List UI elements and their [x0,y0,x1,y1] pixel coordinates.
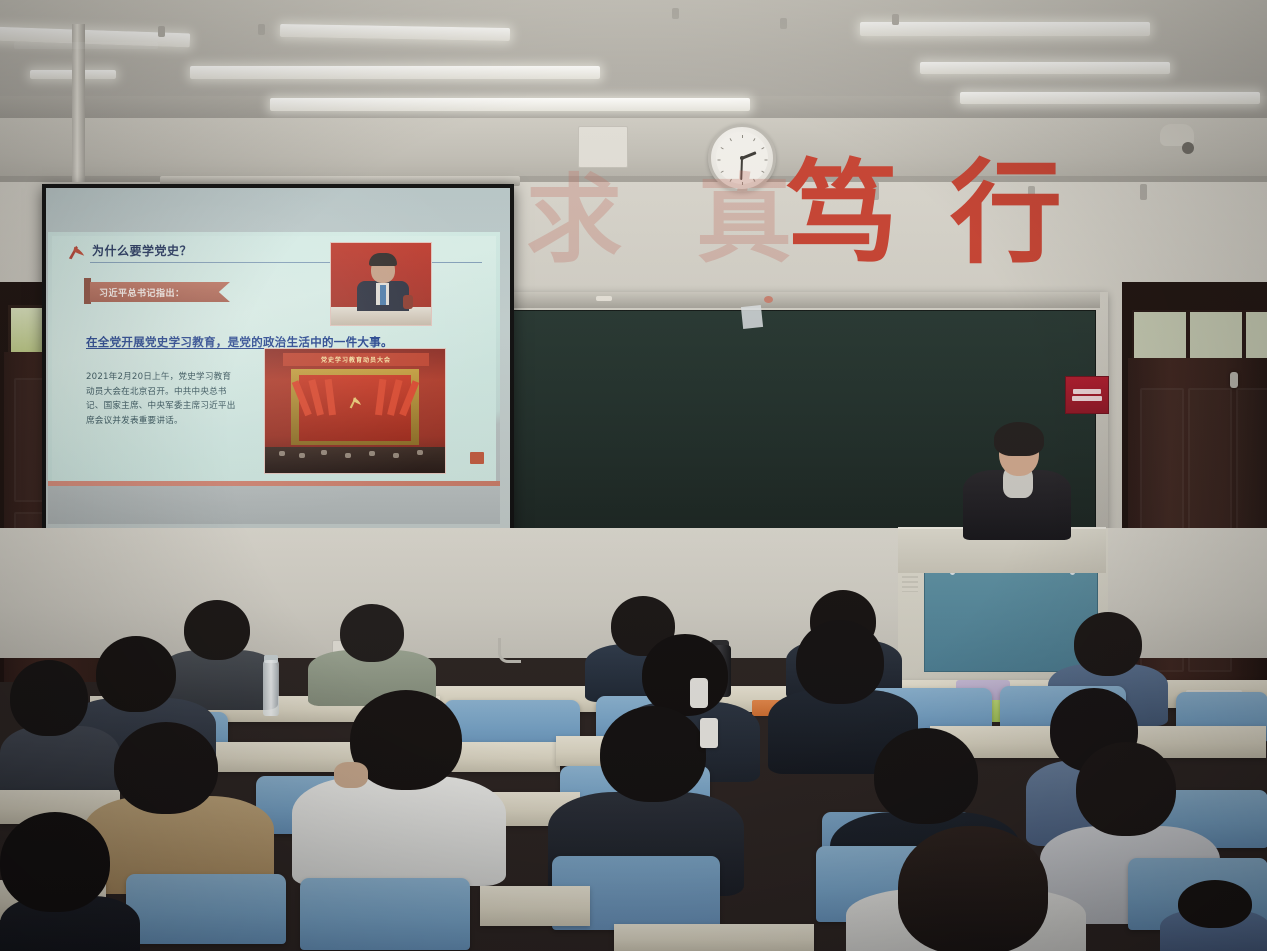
notice-board-text-line [14,42,158,49]
student-head [0,812,110,912]
student [0,812,140,951]
projector-mount-pole [72,24,85,196]
hall-banner: 党史学习教育动员大会 [283,353,429,366]
speaker-tie [380,285,386,305]
ribbon-label: 习近平总书记指出： [90,286,185,299]
cpc-emblem-icon [347,395,363,411]
slide-corner-logo [470,452,484,464]
hall-banner-text: 党史学习教育动员大会 [321,355,391,364]
ceiling-fitting [158,26,165,37]
student-head [340,604,404,662]
student-head [1076,742,1176,836]
teacher [963,412,1071,532]
desk-row [614,924,814,951]
chalk-tray [502,292,1100,308]
slide-body-text: 2021年2月20日上午，党史学习教育动员大会在北京召开。中共中央总书记、国家主… [86,370,238,428]
water-bottle [263,660,279,716]
ceiling-fitting [892,14,899,25]
door-panel [1140,388,1184,532]
teacher-hair [994,422,1044,456]
safety-sign [1065,376,1109,414]
speaker-hair [369,253,397,266]
student-head [796,620,884,704]
ceiling-light [960,92,1260,104]
seat [300,878,470,950]
student-head [1074,612,1142,676]
student-head [642,634,728,716]
student-head [114,722,218,814]
hair-clip-icon [690,678,708,708]
classroom-photo: 求真 笃行 为什么要学党史？ 习近平总书 [0,0,1267,951]
slide-title: 为什么要学党史？ [92,242,192,259]
wall-calligraphy: 笃行 [786,158,1114,270]
slide-photo-speaker [330,242,432,326]
slide-photo-conference-hall: 党史学习教育动员大会 [264,348,446,474]
ribbon-tail [84,278,91,304]
screen-unused-area [48,486,500,524]
presentation-slide[interactable]: 为什么要学党史？ 习近平总书记指出： 在全党开展党史学习教育，是党的政治生活中的… [52,236,496,482]
cpc-emblem-icon [66,244,88,262]
wall-hook [1140,184,1147,200]
door-panel [1236,388,1267,532]
student-head [600,706,706,802]
student-head [898,826,1048,951]
seat [126,874,286,944]
ceiling-fitting [672,8,679,19]
ceiling-light [860,22,1150,36]
wall-hook-icon [498,638,521,663]
door-transom [1188,310,1244,362]
student-head [1178,880,1252,928]
slide-ribbon-banner: 习近平总书记指出： [90,282,230,302]
wall-panel-box [578,126,628,168]
ceiling-light [190,66,600,79]
microphone-icon [403,295,413,309]
door-transom [1244,310,1267,362]
ceiling-light [920,62,1170,74]
chalk-piece [596,296,612,301]
student-head [874,728,978,824]
door-hinge-icon [1230,372,1238,388]
clock-center-pin [740,156,744,160]
ceiling-fitting [258,24,265,35]
chalk-piece [764,296,773,303]
door-panel [1188,388,1232,532]
student [846,826,1086,951]
door-transom [1132,310,1188,362]
ceiling-fitting [780,18,787,29]
desk-row [480,886,590,926]
camera-lens-icon [1182,142,1194,154]
board-note-paper [741,305,763,329]
student-head [10,660,88,736]
hair-clip-icon [700,718,718,748]
ceiling-light [270,98,750,111]
student [1160,880,1267,951]
student-torso [292,776,506,886]
student [292,690,506,870]
student-hand [334,762,368,788]
student [308,604,436,700]
